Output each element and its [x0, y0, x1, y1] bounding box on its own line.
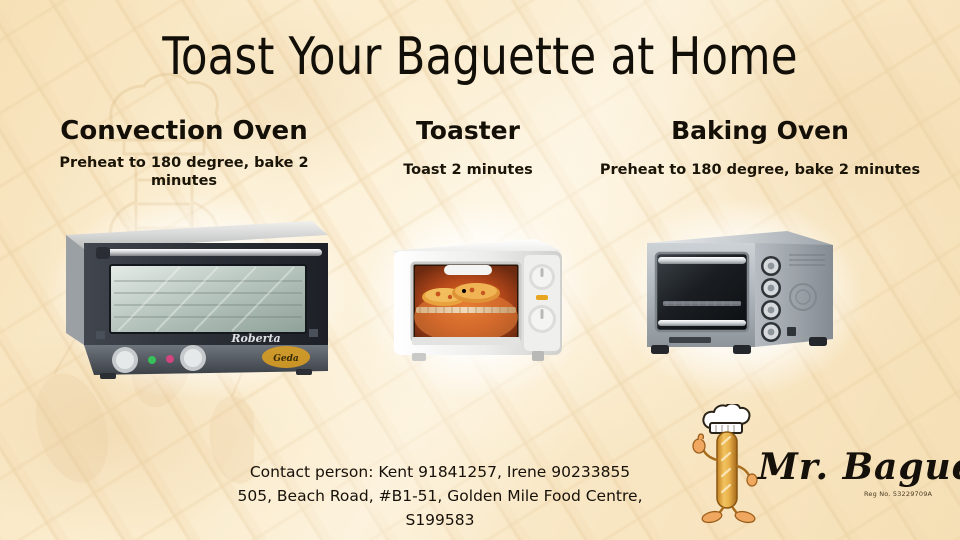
logo-wordmark: Mr. Baguette: [758, 446, 960, 488]
convection-oven-illustration: Roberta Geda: [60, 205, 332, 385]
contact-block: Contact person: Kent 91841257, Irene 902…: [180, 460, 700, 532]
baking-oven-brand-badge: [669, 337, 711, 343]
poster-canvas: Toast Your Baguette at Home Convection O…: [0, 0, 960, 540]
logo-registration-number: Reg No. 53229709A: [864, 490, 932, 498]
toaster-knob-lower: [528, 305, 556, 333]
contact-postal-code: S199583: [180, 508, 700, 532]
oven-wire-rack: [663, 301, 741, 306]
instruction-toaster: Toast 2 minutes: [362, 161, 574, 179]
instruction-baking-oven: Preheat to 180 degree, bake 2 minutes: [580, 161, 940, 179]
toaster-oven-image: [386, 225, 568, 375]
baking-oven-knob-2: [761, 278, 781, 298]
baking-oven-knob-1: [761, 256, 781, 276]
poster-title: Toast Your Baguette at Home: [34, 31, 927, 83]
baking-oven-knob-4: [761, 322, 781, 342]
contact-persons: Contact person: Kent 91841257, Irene 902…: [180, 460, 700, 484]
column-toaster: Toaster Toast 2 minutes: [362, 118, 574, 179]
column-convection-oven: Convection Oven Preheat to 180 degree, b…: [16, 118, 352, 191]
column-baking-oven: Baking Oven Preheat to 180 degree, bake …: [580, 118, 940, 179]
convection-oven-image: Roberta Geda: [60, 205, 332, 385]
convection-oven-brand-label: Roberta: [230, 332, 280, 345]
toaster-oven-illustration: [386, 225, 568, 375]
toaster-knob-upper: [529, 264, 555, 290]
baking-oven-illustration: [637, 215, 842, 375]
heading-baking-oven: Baking Oven: [580, 118, 940, 144]
heading-convection-oven: Convection Oven: [16, 118, 352, 145]
convection-oven-knob-left: [112, 347, 138, 373]
toaster-indicator-light: [536, 295, 548, 300]
instruction-convection-oven: Preheat to 180 degree, bake 2 minutes: [55, 154, 313, 190]
thumbs-up-hand: [693, 434, 705, 453]
chef-hat: [703, 404, 749, 433]
convection-oven-knob-right: [180, 345, 206, 371]
contact-address: 505, Beach Road, #B1-51, Golden Mile Foo…: [180, 484, 700, 508]
baking-oven-knob-3: [761, 300, 781, 320]
brand-logo: Mr. Baguette Reg No. 53229709A: [686, 404, 948, 528]
heading-toaster: Toaster: [362, 118, 574, 144]
svg-text:Geda: Geda: [273, 354, 299, 364]
baking-oven-image: [637, 215, 842, 375]
